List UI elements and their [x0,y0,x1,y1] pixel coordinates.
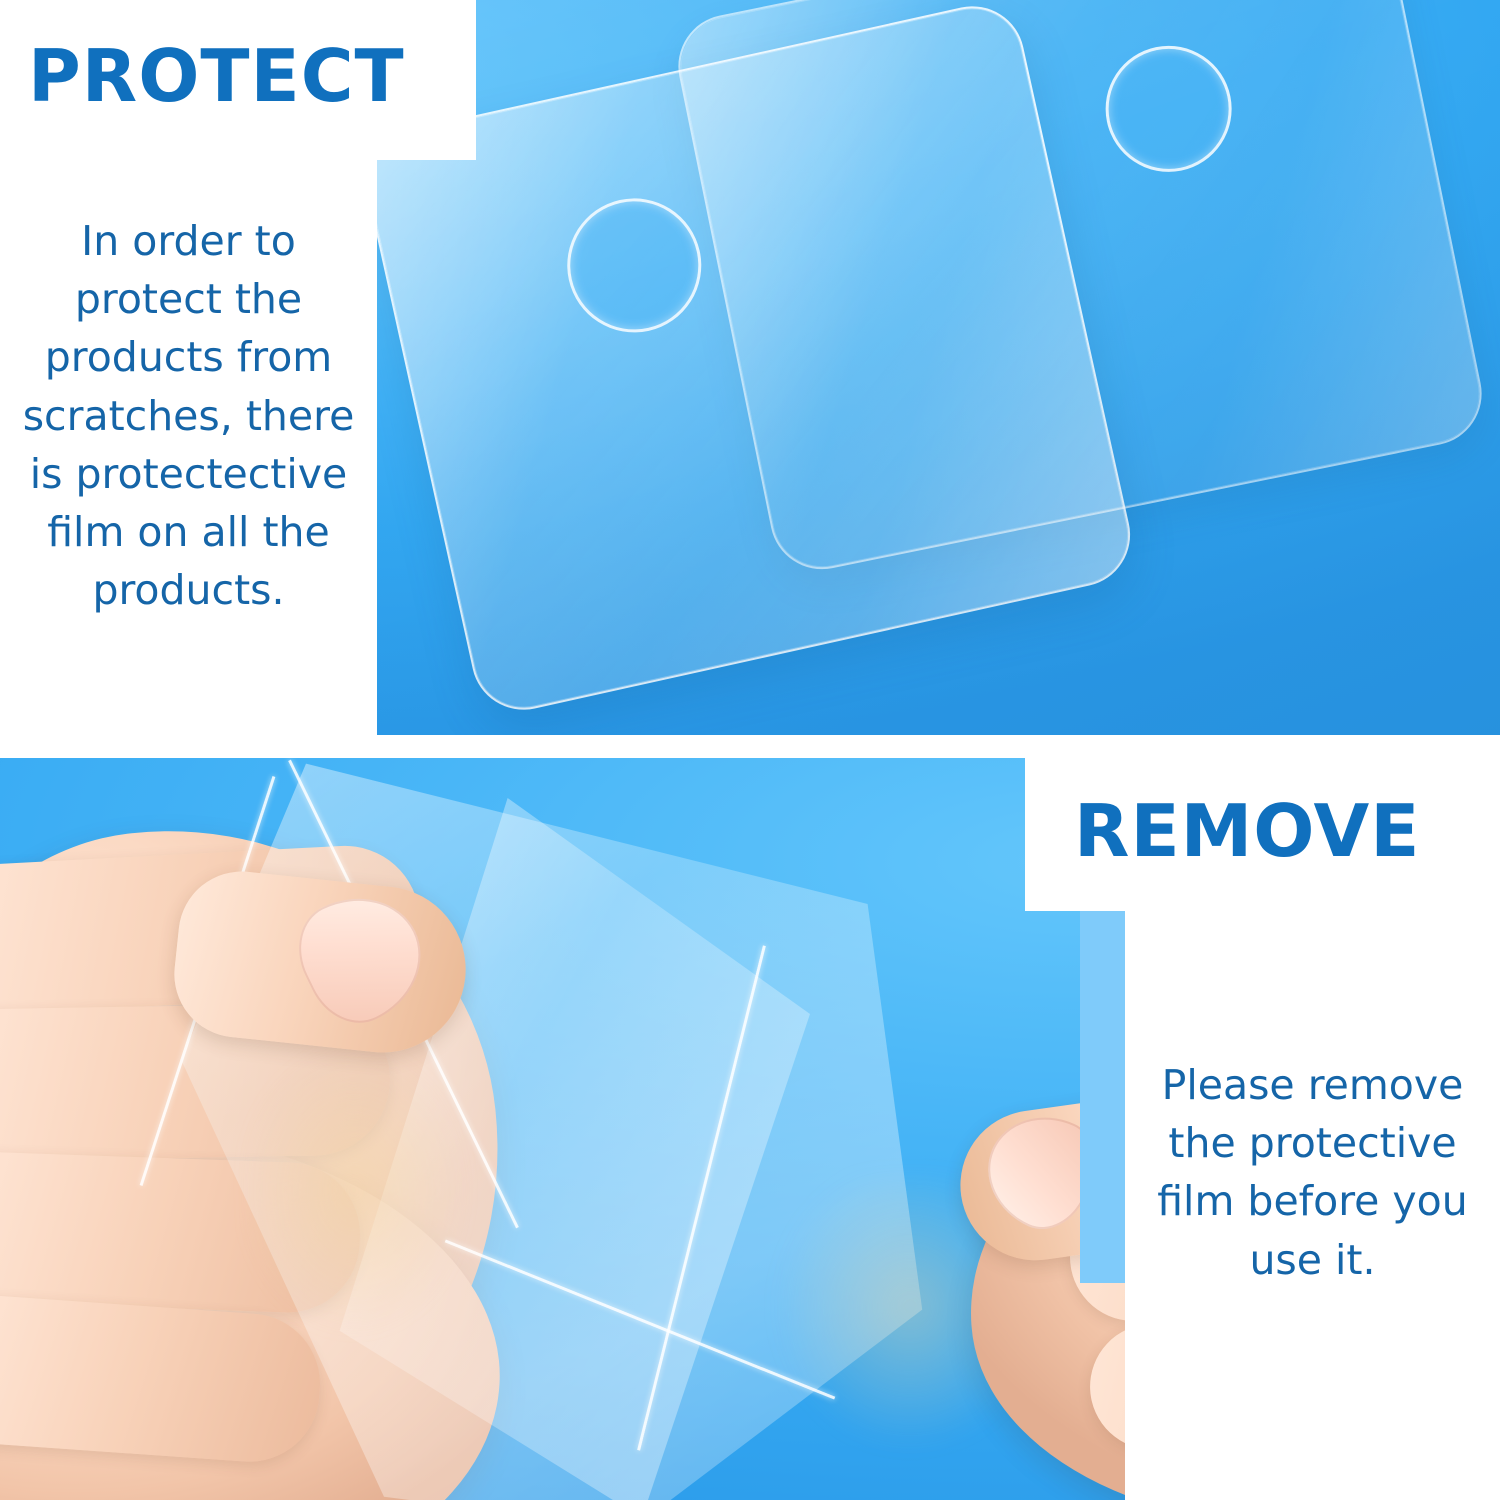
film-warm-highlight-left [250,1058,510,1388]
protect-panel: PROTECT In order to protect the products… [0,0,1500,735]
protect-title: PROTECT [28,40,405,112]
remove-panel: REMOVE Please remove the protective film… [0,758,1500,1500]
protect-body-text: In order to protect the products from sc… [10,212,367,620]
infographic-page: PROTECT In order to protect the products… [0,0,1500,1500]
remove-body-text: Please remove the protective film before… [1140,1056,1485,1289]
remove-title: REMOVE [1074,795,1420,867]
